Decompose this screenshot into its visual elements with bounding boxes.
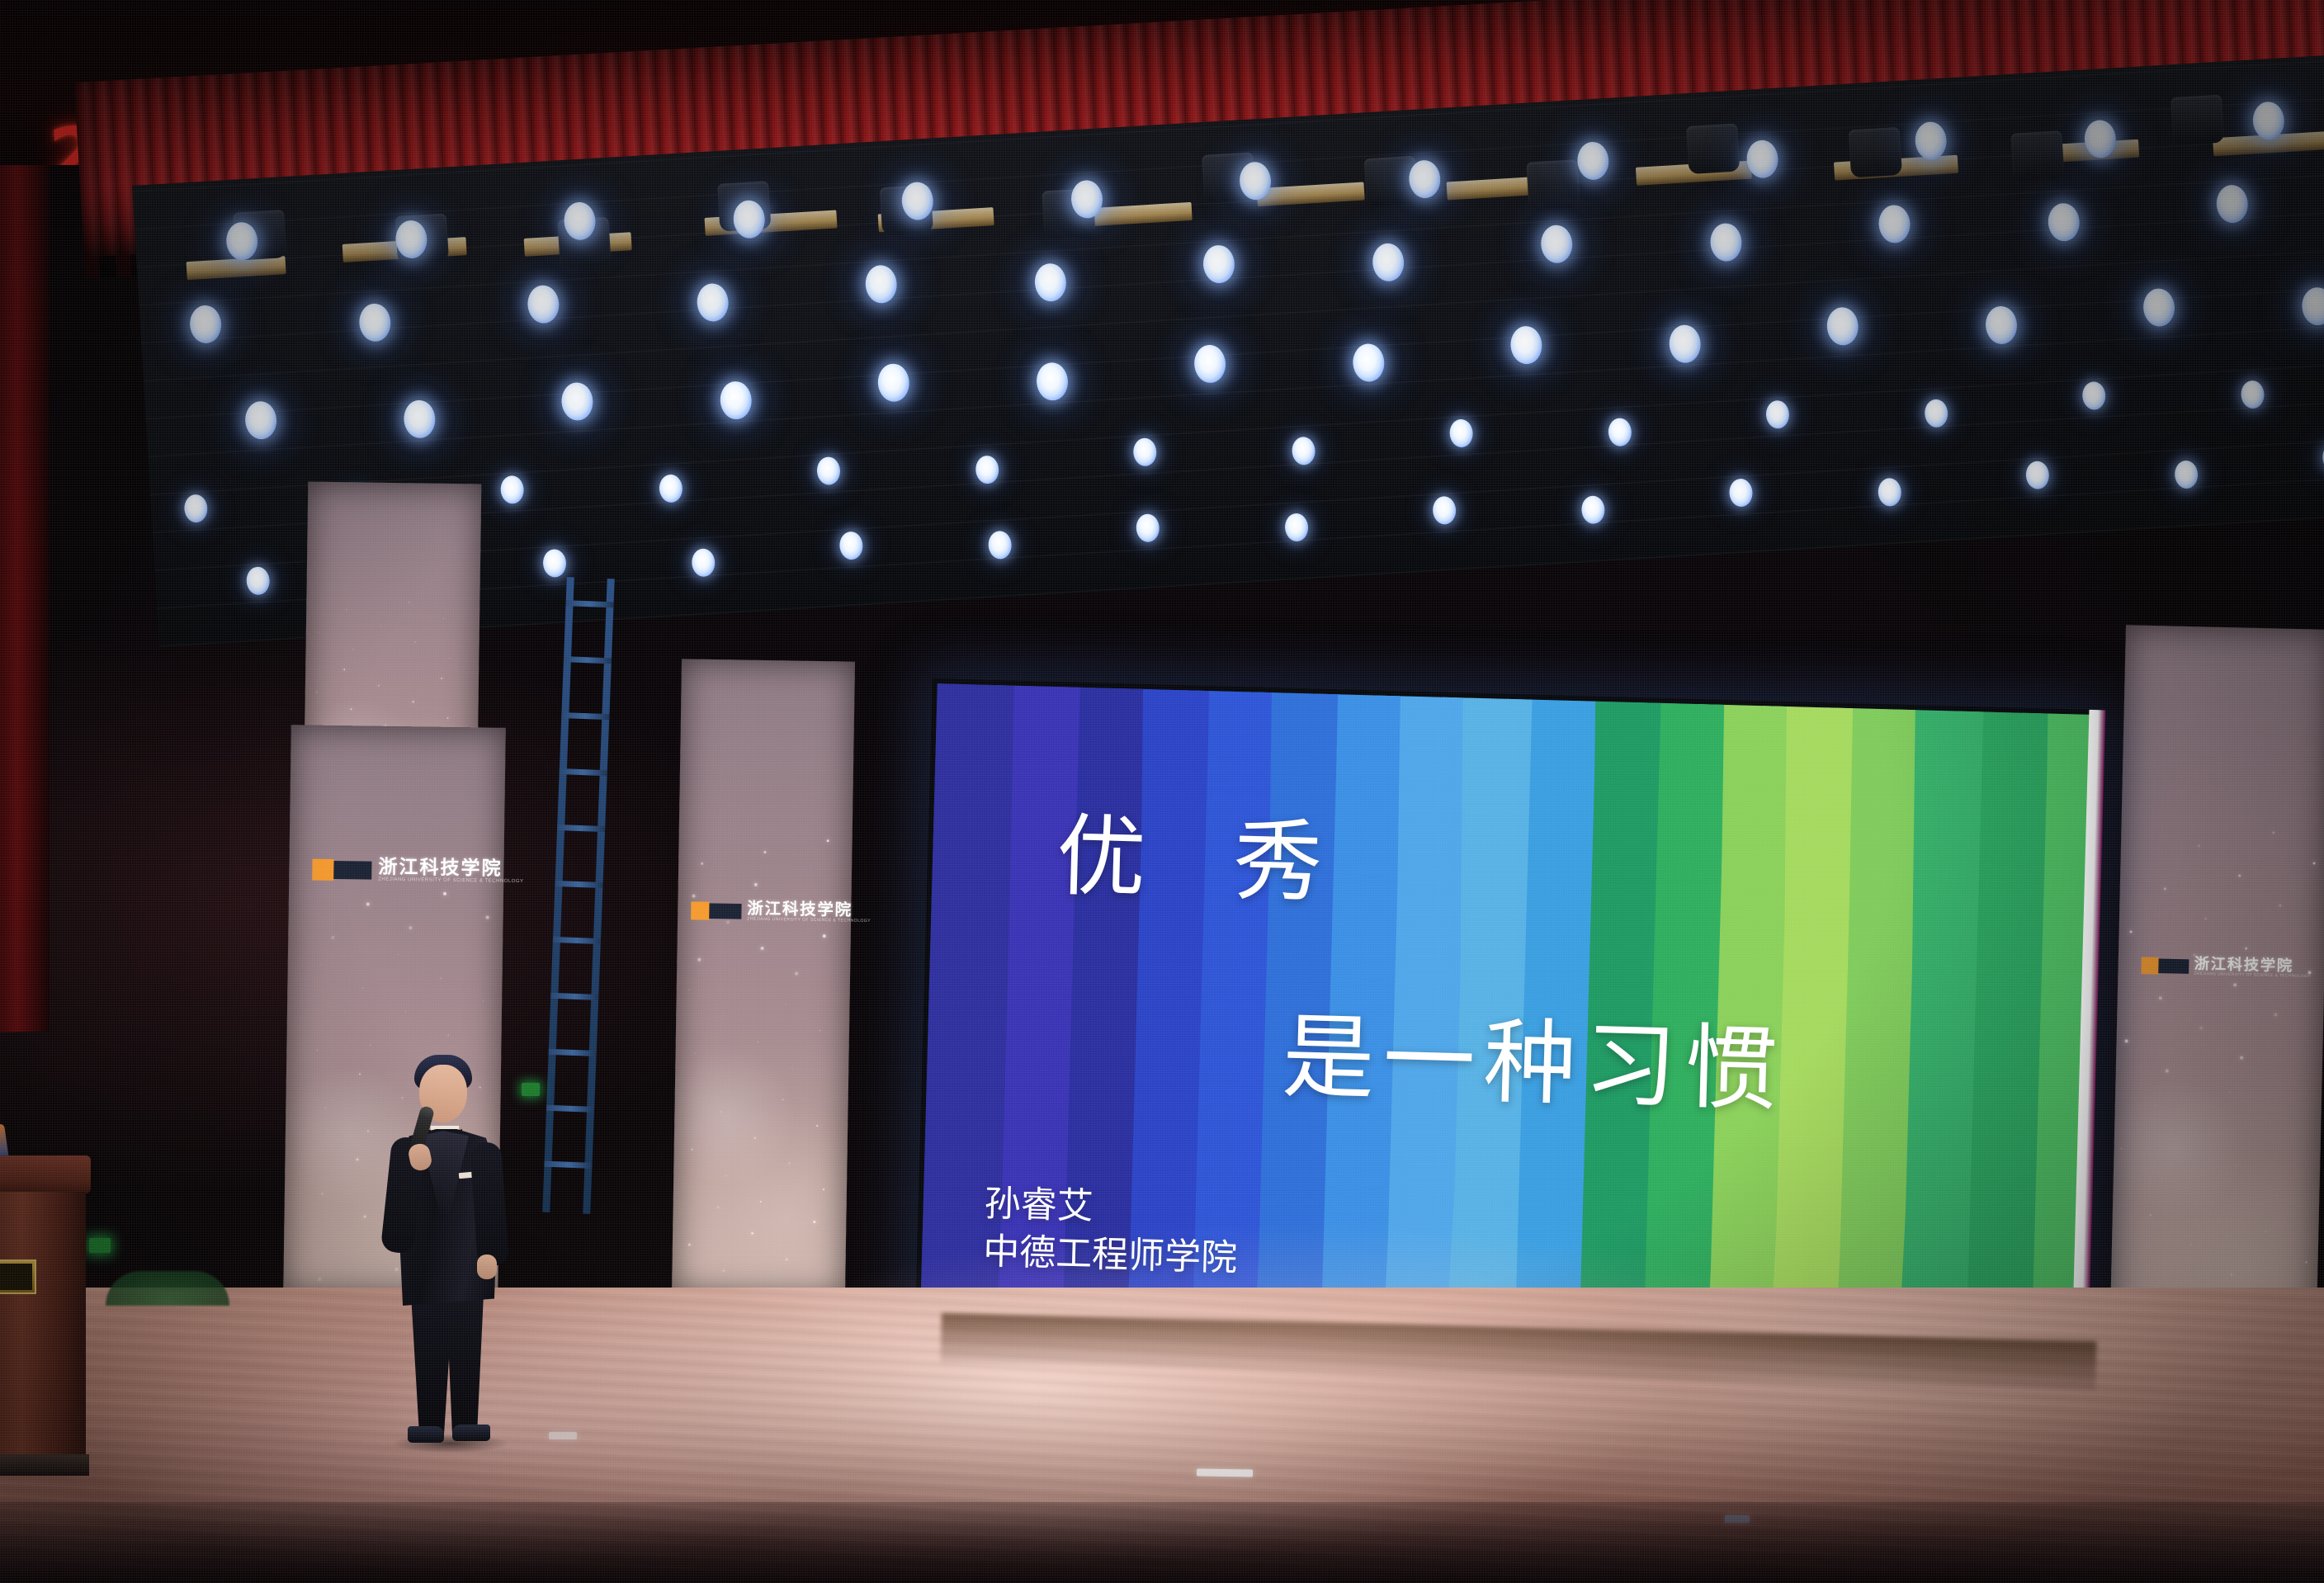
flat-sparkle: [2163, 887, 2166, 890]
stage-light: [1132, 437, 1157, 467]
flat-sparkle: [318, 632, 319, 633]
flat-sparkle: [2129, 930, 2132, 933]
floor-marker-tape: [549, 1432, 577, 1439]
flat-sparkle: [786, 1004, 786, 1004]
flat-sparkle: [2265, 1231, 2266, 1233]
podium-body: [0, 1192, 86, 1464]
stage-light: [1576, 141, 1610, 181]
presenter-shoe-left: [408, 1426, 444, 1443]
flat-sparkle: [443, 892, 446, 895]
stage-light: [876, 363, 910, 403]
flat-sparkle: [820, 1030, 820, 1031]
stage-light: [1540, 224, 1574, 264]
flat-sparkle: [2120, 1148, 2121, 1149]
flat-sparkle: [823, 1188, 824, 1190]
flat-sparkle: [367, 1130, 369, 1132]
flat-sparkle: [321, 1193, 324, 1195]
podium-nameplate: [0, 1259, 36, 1294]
flat-sparkle: [723, 1015, 724, 1016]
flat-sparkle: [695, 1053, 696, 1054]
stage-light: [1668, 324, 1702, 364]
flat-sparkle: [2240, 1056, 2243, 1060]
stage-light: [691, 548, 716, 578]
podium-base: [0, 1454, 89, 1476]
flat-sparkle: [415, 641, 416, 642]
stage-light: [560, 381, 594, 421]
flat-sparkle: [2238, 875, 2241, 877]
flat-sparkle: [754, 1136, 756, 1138]
venue-logo-name-en: ZHEJIANG UNIVERSITY OF SCIENCE & TECHNOL…: [378, 877, 523, 884]
slide-title-line1: 优 秀: [1055, 784, 1353, 921]
flat-sparkle: [352, 649, 353, 650]
stage-light: [975, 455, 999, 484]
stage-light: [1202, 244, 1236, 284]
stage-light: [1914, 121, 1948, 161]
flat-sparkle: [2307, 971, 2311, 974]
stage-light: [2215, 184, 2249, 224]
venue-logo-left: 浙江科技学院 ZHEJIANG UNIVERSITY OF SCIENCE & …: [312, 858, 524, 885]
flat-sparkle: [720, 1111, 721, 1113]
flat-sparkle: [692, 1149, 693, 1151]
flat-sparkle: [2276, 1195, 2277, 1196]
stage-apron-shadow: [0, 1502, 2324, 1583]
stage-light: [719, 380, 753, 420]
slide-presenter-name: 孙睿艾: [984, 1180, 1239, 1235]
flat-sparkle: [813, 1221, 815, 1223]
flat-sparkle: [409, 602, 409, 602]
flat-sparkle: [443, 618, 444, 619]
stage-light: [1284, 513, 1309, 542]
flat-sparkle: [2233, 984, 2237, 987]
venue-logo-name-cn: 浙江科技学院: [747, 901, 871, 919]
flat-sparkle: [356, 1159, 358, 1161]
stage-light: [183, 494, 208, 523]
flat-sparkle: [2312, 862, 2315, 864]
flat-sparkle: [483, 1001, 484, 1002]
podium-top: [0, 1155, 91, 1193]
flat-sparkle: [816, 1125, 818, 1127]
logo-bar-icon: [2158, 958, 2189, 973]
flat-sparkle: [371, 1045, 371, 1046]
flat-sparkle: [692, 895, 695, 898]
floor-drape: [106, 1271, 229, 1306]
stage-light: [659, 474, 683, 503]
flat-sparkle: [2161, 1178, 2161, 1179]
flat-sparkle: [409, 926, 412, 929]
flat-sparkle: [725, 1174, 727, 1176]
scenic-flat-middle: 浙江科技学院 ZHEJIANG UNIVERSITY OF SCIENCE & …: [672, 659, 855, 1297]
flat-sparkle: [2194, 1135, 2195, 1136]
flat-sparkle: [450, 658, 451, 659]
presenter-trousers: [406, 1294, 489, 1434]
stage-light: [1372, 243, 1405, 282]
flat-sparkle: [722, 1269, 725, 1272]
flat-sparkle: [760, 1200, 762, 1202]
stage-light: [1136, 513, 1160, 543]
slide-presenter-org: 中德工程师学院: [982, 1228, 1237, 1283]
stage-light: [1878, 204, 1911, 243]
venue-logo-right: 浙江科技学院 ZHEJIANG UNIVERSITY OF SCIENCE & …: [2141, 956, 2311, 979]
flat-sparkle: [2272, 832, 2274, 834]
stage-light: [2142, 288, 2176, 328]
flat-sparkle: [688, 1244, 691, 1246]
led-screen: 优 秀 是一种习惯 孙睿艾 中德工程师学院: [915, 678, 2104, 1362]
flat-sparkle: [757, 1042, 758, 1042]
flat-sparkle: [405, 1011, 406, 1012]
stage-light: [1709, 222, 1743, 262]
flat-sparkle: [346, 609, 347, 610]
flat-sparkle: [2204, 918, 2206, 920]
flat-sparkle: [378, 685, 380, 687]
flat-sparkle: [448, 1034, 449, 1035]
flat-sparkle: [447, 717, 449, 719]
stage-light: [816, 456, 841, 486]
flat-sparkle: [359, 1073, 361, 1075]
presenter-shoe-right: [452, 1425, 490, 1441]
flat-sparkle: [788, 1163, 790, 1165]
flat-sparkle: [362, 988, 363, 989]
stage-light: [358, 303, 392, 343]
flat-sparkle: [2231, 1274, 2232, 1276]
flat-sparkle: [726, 920, 730, 924]
slide-title-line2: 是一种习惯: [1281, 982, 1788, 1129]
flat-sparkle: [2154, 1105, 2155, 1106]
stage-light: [542, 549, 567, 579]
flat-sparkle: [343, 669, 345, 670]
stage-light: [2301, 286, 2324, 326]
stage-light: [1034, 262, 1068, 302]
logo-bar-icon: [333, 860, 371, 879]
flat-sparkle: [688, 990, 689, 990]
logo-mark-icon: [2141, 957, 2158, 974]
stage-light: [1449, 418, 1474, 448]
flat-sparkle: [2306, 1261, 2307, 1263]
stage-light: [189, 305, 223, 344]
light-fixture-housing: [2170, 95, 2224, 146]
flat-sparkle: [413, 701, 414, 702]
stage-light: [1292, 437, 1316, 466]
logo-mark-icon: [691, 901, 709, 919]
stage-light: [2025, 461, 2050, 490]
stage-light: [246, 566, 271, 596]
venue-logo-middle: 浙江科技学院 ZHEJIANG UNIVERSITY OF SCIENCE & …: [691, 900, 871, 924]
venue-logo-name-en: ZHEJIANG UNIVERSITY OF SCIENCE & TECHNOL…: [747, 917, 871, 923]
slide-presenter-block: 孙睿艾 中德工程师学院: [982, 1180, 1239, 1283]
stage-light: [1580, 495, 1605, 525]
stage-light: [1729, 478, 1754, 508]
logo-mark-icon: [312, 858, 333, 880]
flat-sparkle: [754, 882, 758, 886]
truss-bar: [1257, 182, 1365, 206]
podium: [0, 1155, 91, 1486]
flat-sparkle: [791, 1067, 792, 1068]
stage-light: [403, 399, 437, 439]
flat-sparkle: [350, 708, 352, 710]
stage-photo-scene: 2018年“卓越盛典”——浙江科技学院优秀学 浙江科技学院 ZHEJIANG U…: [0, 0, 2324, 1583]
flat-sparkle: [380, 626, 381, 626]
stage-light: [1193, 344, 1227, 384]
stage-light: [1352, 343, 1386, 382]
flat-sparkle: [823, 934, 826, 938]
exit-sign-icon: [89, 1238, 111, 1253]
flat-sparkle: [2199, 1026, 2203, 1029]
flat-sparkle: [826, 839, 829, 842]
flat-sparkle: [716, 1206, 719, 1208]
flat-sparkle: [751, 1232, 753, 1235]
stage-light: [1826, 306, 1859, 346]
stage-light: [864, 264, 898, 304]
flat-sparkle: [2190, 1244, 2192, 1245]
flat-sparkle: [315, 692, 317, 693]
scenic-flat-right: 浙江科技学院 ZHEJIANG UNIVERSITY OF SCIENCE & …: [2109, 625, 2324, 1355]
flat-sparkle: [486, 915, 489, 919]
stage-light: [1432, 496, 1457, 526]
logo-bar-icon: [709, 903, 741, 919]
light-fixture-housing: [1849, 127, 1902, 178]
stage-light: [1036, 361, 1070, 401]
light-fixture-housing: [1686, 124, 1740, 175]
stage-light: [1924, 399, 1948, 428]
flat-sparkle: [2279, 905, 2281, 907]
flat-sparkle: [763, 851, 766, 853]
flat-sparkle: [2166, 1069, 2169, 1072]
flat-sparkle: [729, 1080, 730, 1080]
flat-sparkle: [782, 1099, 784, 1101]
flat-sparkle: [398, 954, 399, 955]
flat-sparkle: [366, 902, 369, 905]
flat-sparkle: [331, 936, 334, 939]
stage-light: [988, 531, 1013, 560]
flat-sparkle: [320, 965, 321, 966]
flat-sparkle: [785, 1258, 787, 1260]
stage-light: [2081, 381, 2106, 411]
stage-light: [1878, 478, 1902, 508]
flat-sparkle: [2274, 1014, 2277, 1017]
stage-light: [696, 282, 730, 322]
flat-sparkle: [328, 1022, 328, 1023]
presentation-slide: 优 秀 是一种习惯 孙睿艾 中德工程师学院: [920, 683, 2100, 1357]
flat-sparkle: [364, 1216, 366, 1218]
flat-sparkle: [2125, 1039, 2128, 1042]
stage-light: [2241, 380, 2265, 409]
flat-sparkle: [2229, 1092, 2230, 1093]
flat-sparkle: [440, 977, 441, 978]
truss-bar: [187, 256, 286, 280]
flat-sparkle: [701, 862, 703, 865]
stage-light: [2174, 460, 2199, 489]
flat-sparkle: [2193, 953, 2196, 957]
flat-sparkle: [317, 1050, 319, 1051]
flat-sparkle: [2245, 947, 2247, 950]
presenter-hand-right: [477, 1255, 497, 1279]
stage-light: [1985, 305, 2019, 345]
flat-sparkle: [795, 972, 798, 976]
stage-light: [838, 531, 863, 560]
flat-sparkle: [697, 958, 701, 962]
exit-sign-icon: [522, 1083, 540, 1096]
stage-light: [1765, 399, 1790, 429]
stage-light: [2047, 202, 2081, 242]
flat-sparkle: [2270, 1122, 2270, 1123]
floor-marker-tape: [1197, 1468, 1253, 1477]
flat-sparkle: [318, 1278, 321, 1281]
flat-sparkle: [2159, 996, 2162, 999]
flat-sparkle: [441, 678, 442, 679]
flat-sparkle: [324, 1107, 326, 1108]
stage-light: [500, 475, 525, 505]
venue-logo-name-cn: 浙江科技学院: [378, 858, 524, 879]
flat-sparkle: [2236, 1165, 2237, 1166]
light-fixture-housing: [1526, 159, 1580, 210]
side-curtain-left: [0, 57, 50, 1032]
stage-light: [244, 400, 278, 440]
presenter-figure: [373, 1047, 522, 1448]
stage-light: [1509, 325, 1543, 365]
flat-sparkle: [760, 946, 763, 949]
light-fixture-housing: [2010, 130, 2064, 182]
flat-sparkle: [2150, 1214, 2152, 1216]
stage-light: [527, 285, 560, 324]
stage-light: [1608, 418, 1632, 447]
flat-sparkle: [2197, 844, 2199, 847]
flat-sparkle: [312, 593, 313, 593]
